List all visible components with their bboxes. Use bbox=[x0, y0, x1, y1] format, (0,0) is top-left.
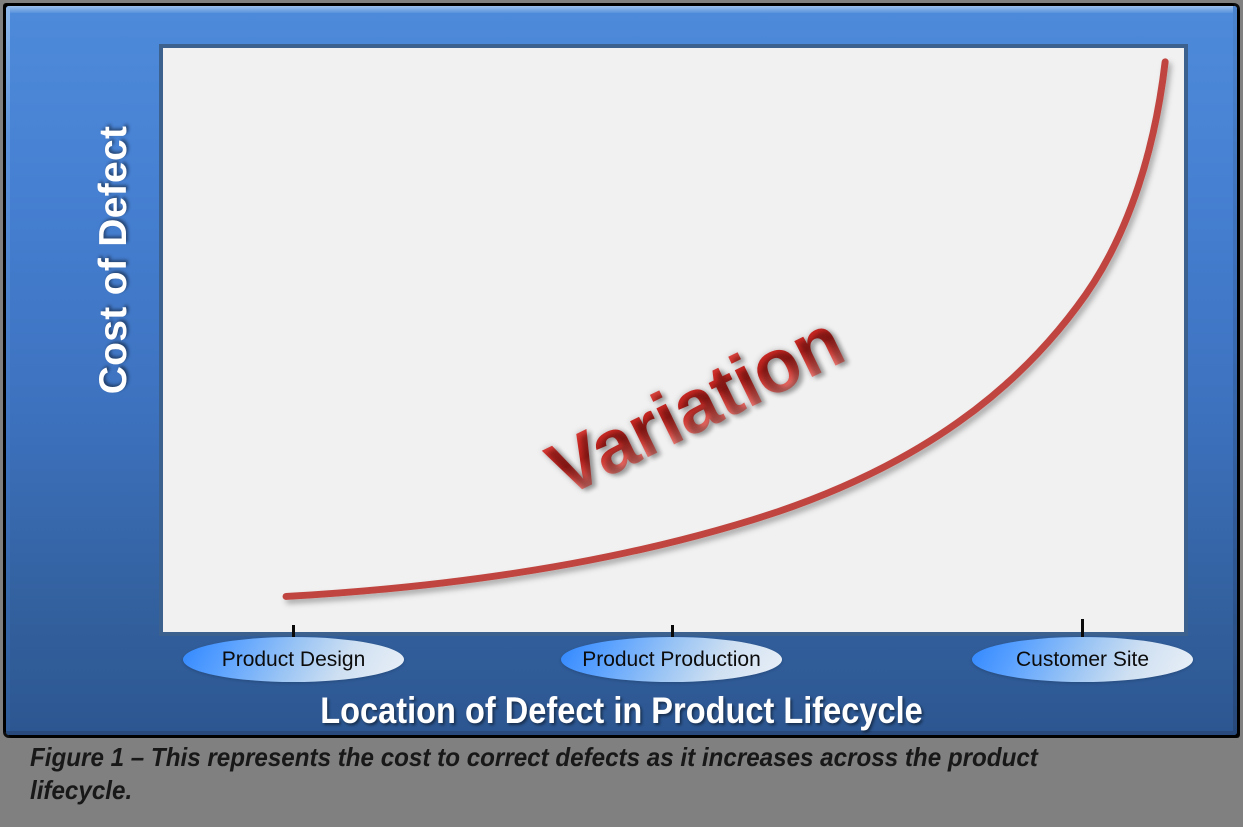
category-label-customer-site: Customer Site bbox=[1016, 648, 1149, 672]
category-label-product-production: Product Production bbox=[582, 648, 761, 672]
plot-area bbox=[159, 44, 1188, 636]
figure-frame: Cost of Defect Variation Variation Produ… bbox=[6, 6, 1237, 735]
category-label-product-design: Product Design bbox=[222, 648, 366, 672]
figure-canvas: Cost of Defect Variation Variation Produ… bbox=[0, 0, 1243, 827]
cost-curve-svg bbox=[163, 48, 1184, 632]
frame-bevel-right-edge bbox=[1233, 6, 1237, 735]
category-ellipse-customer-site[interactable]: Customer Site bbox=[972, 637, 1193, 682]
figure-caption: Figure 1 – This represents the cost to c… bbox=[30, 741, 1109, 807]
x-axis-title: Location of Defect in Product Lifecycle bbox=[80, 690, 1163, 732]
y-axis-title: Cost of Defect bbox=[92, 100, 136, 420]
frame-bevel-top-edge bbox=[6, 6, 1237, 13]
cost-of-defect-curve bbox=[286, 62, 1165, 597]
frame-bevel-left-edge bbox=[6, 6, 10, 735]
category-ellipse-product-production[interactable]: Product Production bbox=[561, 637, 782, 682]
category-ellipse-product-design[interactable]: Product Design bbox=[183, 637, 404, 682]
